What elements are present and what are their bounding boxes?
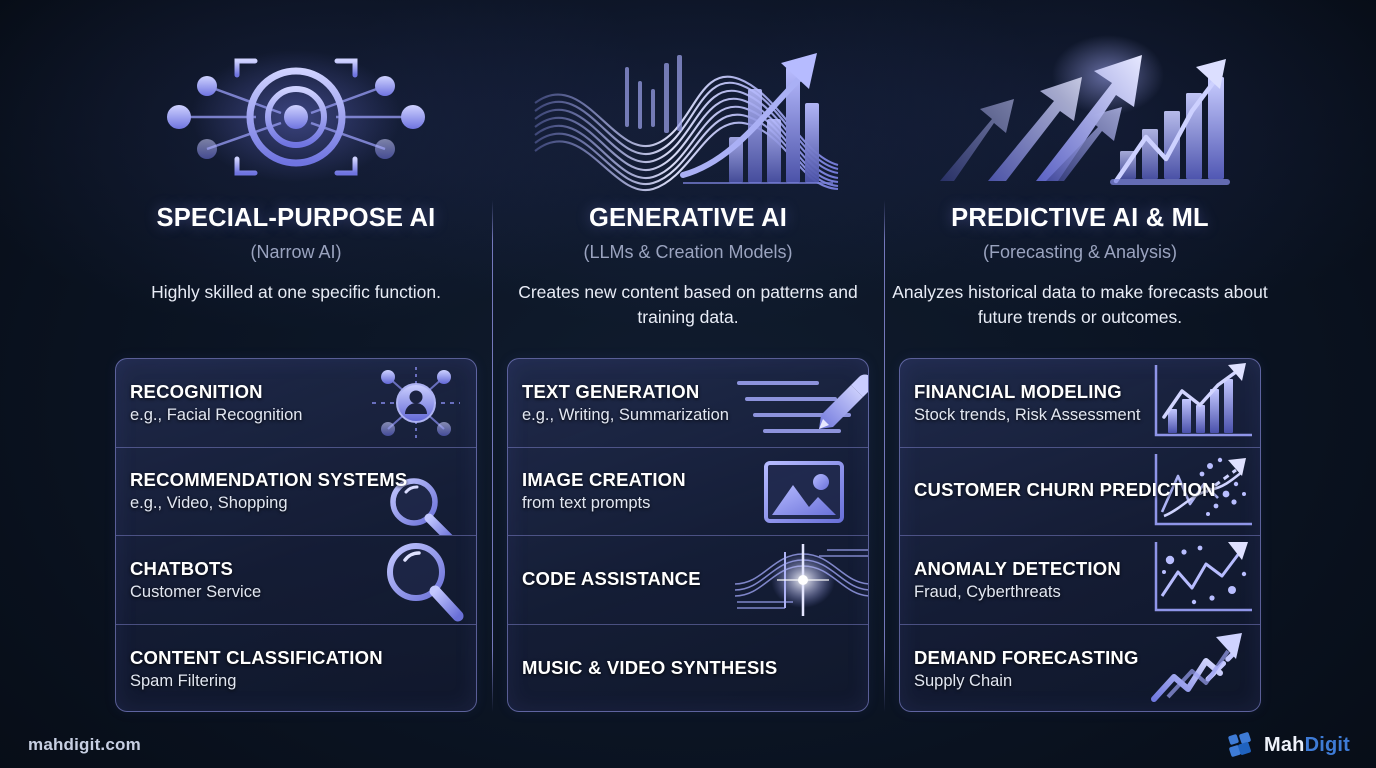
- list-item-subtitle: Spam Filtering: [130, 671, 462, 691]
- feature-card-list: RECOGNITION e.g., Facial Recognition REC…: [115, 358, 477, 712]
- column-subtitle: (LLMs & Creation Models): [492, 242, 884, 263]
- list-item-title: ANOMALY DETECTION: [914, 558, 1246, 580]
- list-item-title: TEXT GENERATION: [522, 381, 854, 403]
- list-item-subtitle: Fraud, Cyberthreats: [914, 582, 1246, 602]
- list-item-title: FINANCIAL MODELING: [914, 381, 1246, 403]
- picture-icon: [744, 448, 864, 537]
- website-label: mahdigit.com: [28, 735, 141, 755]
- column-title: PREDICTIVE AI & ML: [884, 204, 1276, 233]
- list-item-title: CUSTOMER CHURN PREDICTION: [914, 479, 1246, 501]
- list-item[interactable]: MUSIC & VIDEO SYNTHESIS: [508, 625, 868, 713]
- list-item-subtitle: e.g., Video, Shopping: [130, 493, 462, 513]
- brand-logo: MahDigit: [1228, 732, 1350, 758]
- list-item-title: CONTENT CLASSIFICATION: [130, 647, 462, 669]
- column-title: GENERATIVE AI: [492, 204, 884, 233]
- user-network-icon: [356, 359, 476, 448]
- rising-arrows-bars-icon: [884, 36, 1276, 196]
- list-item[interactable]: CONTENT CLASSIFICATION Spam Filtering: [116, 625, 476, 713]
- list-item-title: DEMAND FORECASTING: [914, 647, 1246, 669]
- list-item[interactable]: CHATBOTS Customer Service: [116, 536, 476, 625]
- infographic-canvas: SPECIAL-PURPOSE AI (Narrow AI) Highly sk…: [0, 0, 1376, 768]
- list-item[interactable]: DEMAND FORECASTING Supply Chain: [900, 625, 1260, 713]
- list-item[interactable]: FINANCIAL MODELING Stock trends, Risk As…: [900, 359, 1260, 448]
- feature-card-list: TEXT GENERATION e.g., Writing, Summariza…: [507, 358, 869, 712]
- brand-text-second: Digit: [1305, 734, 1350, 756]
- list-item[interactable]: RECOMMENDATION SYSTEMS e.g., Video, Shop…: [116, 448, 476, 537]
- bar-line-arrow-chart-icon: [1142, 359, 1260, 448]
- wave-bars-growth-icon: [492, 36, 884, 196]
- anomaly-scatter-icon: [1142, 536, 1260, 625]
- target-crosshair-network-icon: [100, 36, 492, 196]
- mahdigit-logo-icon: [1228, 732, 1256, 758]
- list-item[interactable]: ANOMALY DETECTION Fraud, Cyberthreats: [900, 536, 1260, 625]
- list-item[interactable]: IMAGE CREATION from text prompts: [508, 448, 868, 537]
- brand-text: MahDigit: [1264, 734, 1350, 757]
- column-title: SPECIAL-PURPOSE AI: [100, 204, 492, 233]
- column-generative-ai: GENERATIVE AI (LLMs & Creation Models) C…: [492, 0, 884, 768]
- list-item-title: CODE ASSISTANCE: [522, 568, 854, 590]
- list-item-title: RECOMMENDATION SYSTEMS: [130, 469, 462, 491]
- list-item-subtitle: Customer Service: [130, 582, 462, 602]
- column-special-purpose-ai: SPECIAL-PURPOSE AI (Narrow AI) Highly sk…: [100, 0, 492, 768]
- list-item-subtitle: from text prompts: [522, 493, 854, 513]
- list-item-title: IMAGE CREATION: [522, 469, 854, 491]
- column-predictive-ai-ml: PREDICTIVE AI & ML (Forecasting & Analys…: [884, 0, 1276, 768]
- pencil-lines-icon: [726, 359, 868, 448]
- list-item-title: MUSIC & VIDEO SYNTHESIS: [522, 657, 854, 679]
- column-description: Creates new content based on patterns an…: [498, 280, 878, 330]
- list-item-subtitle: e.g., Facial Recognition: [130, 405, 462, 425]
- column-subtitle: (Forecasting & Analysis): [884, 242, 1276, 263]
- list-item-title: CHATBOTS: [130, 558, 462, 580]
- feature-card-list: FINANCIAL MODELING Stock trends, Risk As…: [899, 358, 1261, 712]
- list-item[interactable]: CODE ASSISTANCE: [508, 536, 868, 625]
- column-description: Highly skilled at one specific function.: [106, 280, 486, 305]
- list-item-subtitle: e.g., Writing, Summarization: [522, 405, 854, 425]
- list-item[interactable]: CUSTOMER CHURN PREDICTION: [900, 448, 1260, 537]
- brand-text-first: Mah: [1264, 734, 1305, 756]
- list-item-title: RECOGNITION: [130, 381, 462, 403]
- list-item-subtitle: Supply Chain: [914, 671, 1246, 691]
- column-subtitle: (Narrow AI): [100, 242, 492, 263]
- list-item[interactable]: RECOGNITION e.g., Facial Recognition: [116, 359, 476, 448]
- list-item-subtitle: Stock trends, Risk Assessment: [914, 405, 1246, 425]
- column-description: Analyzes historical data to make forecas…: [890, 280, 1270, 330]
- list-item[interactable]: TEXT GENERATION e.g., Writing, Summariza…: [508, 359, 868, 448]
